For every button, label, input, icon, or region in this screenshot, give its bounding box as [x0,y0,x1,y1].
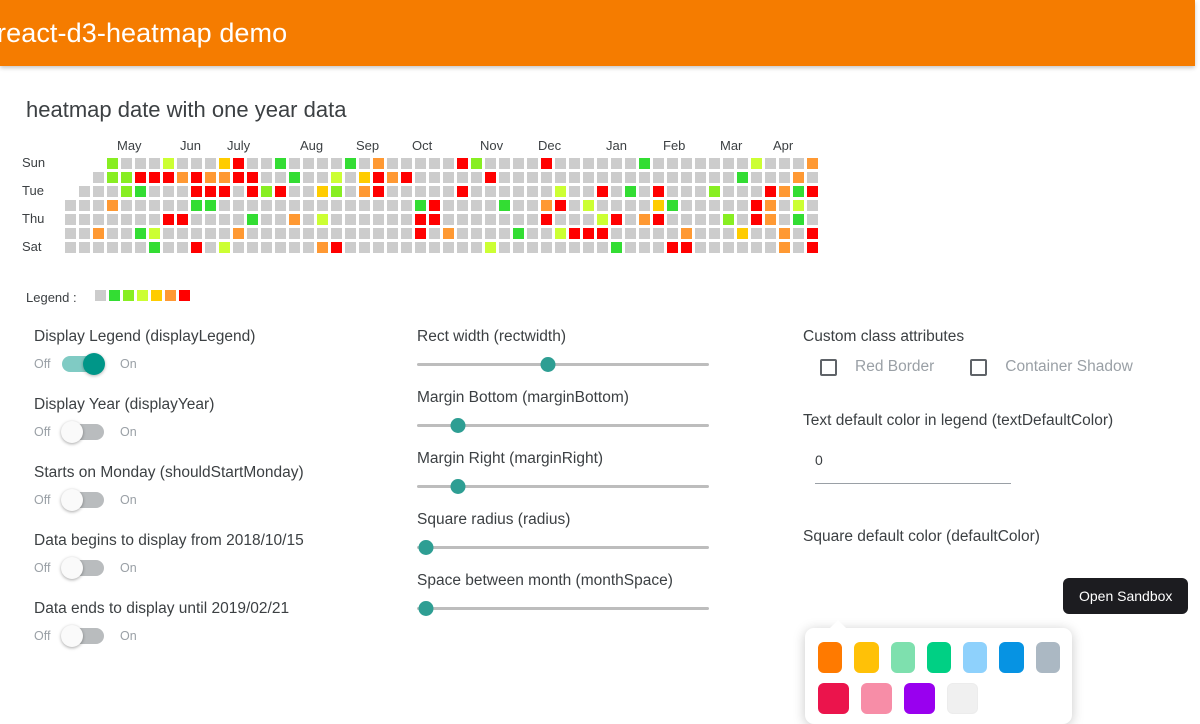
heatmap-cell[interactable] [345,200,356,211]
heatmap-cell[interactable] [499,172,510,183]
toggle-knob[interactable] [83,353,105,375]
toggle-switch[interactable] [62,356,104,372]
heatmap-cell[interactable] [625,200,636,211]
heatmap-cell[interactable] [79,186,90,197]
heatmap-cell[interactable] [191,158,202,169]
heatmap-cell[interactable] [541,214,552,225]
heatmap-cell[interactable] [765,242,776,253]
heatmap-cell[interactable] [625,214,636,225]
heatmap-cell[interactable] [639,172,650,183]
heatmap-cell[interactable] [555,172,566,183]
heatmap-cell[interactable] [247,158,258,169]
heatmap-cell[interactable] [149,158,160,169]
heatmap-cell[interactable] [177,186,188,197]
heatmap-cell[interactable] [569,186,580,197]
heatmap-cell[interactable] [443,242,454,253]
heatmap-cell[interactable] [275,172,286,183]
heatmap-cell[interactable] [79,200,90,211]
heatmap-cell[interactable] [289,228,300,239]
heatmap-cell[interactable] [163,214,174,225]
heatmap-cell[interactable] [653,158,664,169]
heatmap-cell[interactable] [583,186,594,197]
heatmap-cell[interactable] [177,242,188,253]
heatmap-cell[interactable] [79,228,90,239]
heatmap-cell[interactable] [443,228,454,239]
heatmap-cell[interactable] [555,186,566,197]
heatmap-cell[interactable] [471,214,482,225]
heatmap-cell[interactable] [583,228,594,239]
heatmap-cell[interactable] [639,186,650,197]
slider-track[interactable] [417,607,709,610]
heatmap-cell[interactable] [317,242,328,253]
heatmap-cell[interactable] [779,242,790,253]
heatmap-cell[interactable] [275,228,286,239]
heatmap-cell[interactable] [681,242,692,253]
heatmap-cell[interactable] [345,242,356,253]
heatmap-cell[interactable] [387,214,398,225]
heatmap-cell[interactable] [583,158,594,169]
heatmap-cell[interactable] [527,158,538,169]
heatmap-cell[interactable] [779,186,790,197]
heatmap-cell[interactable] [807,228,818,239]
heatmap-cell[interactable] [611,214,622,225]
heatmap-cell[interactable] [205,186,216,197]
heatmap-cell[interactable] [751,242,762,253]
heatmap-cell[interactable] [485,172,496,183]
heatmap-cell[interactable] [499,186,510,197]
heatmap-cell[interactable] [135,200,146,211]
color-swatch[interactable] [999,642,1023,673]
open-sandbox-button[interactable]: Open Sandbox [1063,578,1188,614]
heatmap-cell[interactable] [191,200,202,211]
heatmap-cell[interactable] [373,158,384,169]
heatmap-cell[interactable] [177,214,188,225]
heatmap-cell[interactable] [275,186,286,197]
heatmap-cell[interactable] [93,186,104,197]
heatmap-cell[interactable] [65,242,76,253]
heatmap-cell[interactable] [331,200,342,211]
heatmap-cell[interactable] [583,242,594,253]
heatmap-cell[interactable] [303,186,314,197]
heatmap-cell[interactable] [317,172,328,183]
slider-track[interactable] [417,485,709,488]
heatmap-cell[interactable] [709,242,720,253]
heatmap-cell[interactable] [401,186,412,197]
heatmap-cell[interactable] [513,200,524,211]
heatmap-cell[interactable] [485,214,496,225]
heatmap-cell[interactable] [611,186,622,197]
color-swatch[interactable] [947,683,978,714]
heatmap-cell[interactable] [555,200,566,211]
heatmap-cell[interactable] [331,242,342,253]
heatmap-cell[interactable] [303,214,314,225]
heatmap-cell[interactable] [275,200,286,211]
heatmap-cell[interactable] [667,158,678,169]
heatmap-cell[interactable] [303,242,314,253]
heatmap-cell[interactable] [653,186,664,197]
heatmap-cell[interactable] [93,200,104,211]
heatmap-cell[interactable] [513,186,524,197]
heatmap-cell[interactable] [177,158,188,169]
heatmap-cell[interactable] [149,172,160,183]
heatmap-cell[interactable] [625,158,636,169]
heatmap-cell[interactable] [653,228,664,239]
heatmap-cell[interactable] [695,172,706,183]
heatmap-cell[interactable] [569,242,580,253]
heatmap-cell[interactable] [247,186,258,197]
heatmap-cell[interactable] [345,228,356,239]
heatmap-cell[interactable] [723,200,734,211]
heatmap-cell[interactable] [443,214,454,225]
heatmap-cell[interactable] [359,228,370,239]
heatmap-cell[interactable] [219,186,230,197]
heatmap-cell[interactable] [457,242,468,253]
heatmap-cell[interactable] [415,172,426,183]
heatmap-cell[interactable] [793,186,804,197]
heatmap-cell[interactable] [765,172,776,183]
heatmap-cell[interactable] [387,172,398,183]
heatmap-cell[interactable] [667,200,678,211]
heatmap-cell[interactable] [387,186,398,197]
heatmap-cell[interactable] [359,186,370,197]
heatmap-cell[interactable] [233,158,244,169]
heatmap-cell[interactable] [415,200,426,211]
slider-thumb[interactable] [541,357,556,372]
heatmap-cell[interactable] [205,200,216,211]
slider-thumb[interactable] [418,540,433,555]
heatmap-cell[interactable] [93,242,104,253]
heatmap-cell[interactable] [331,186,342,197]
heatmap-cell[interactable] [723,228,734,239]
heatmap-cell[interactable] [205,158,216,169]
heatmap-cell[interactable] [107,214,118,225]
heatmap-cell[interactable] [429,200,440,211]
heatmap-cell[interactable] [597,186,608,197]
heatmap-cell[interactable] [247,172,258,183]
heatmap-cell[interactable] [233,214,244,225]
heatmap-cell[interactable] [107,200,118,211]
heatmap-cell[interactable] [737,228,748,239]
heatmap-cell[interactable] [163,242,174,253]
heatmap-cell[interactable] [695,186,706,197]
heatmap-cell[interactable] [527,186,538,197]
heatmap-cell[interactable] [485,200,496,211]
heatmap-cell[interactable] [653,242,664,253]
heatmap-cell[interactable] [695,158,706,169]
heatmap-cell[interactable] [807,242,818,253]
heatmap-cell[interactable] [751,200,762,211]
heatmap-cell[interactable] [359,200,370,211]
heatmap-cell[interactable] [709,228,720,239]
heatmap-cell[interactable] [667,172,678,183]
heatmap-cell[interactable] [107,242,118,253]
heatmap-cell[interactable] [527,228,538,239]
heatmap-cell[interactable] [779,200,790,211]
heatmap-cell[interactable] [807,186,818,197]
heatmap-cell[interactable] [597,200,608,211]
heatmap-cell[interactable] [555,242,566,253]
heatmap-cell[interactable] [569,200,580,211]
color-swatch[interactable] [891,642,915,673]
heatmap-cell[interactable] [527,172,538,183]
heatmap-cell[interactable] [499,200,510,211]
heatmap-cell[interactable] [709,214,720,225]
heatmap-cell[interactable] [443,172,454,183]
heatmap-cell[interactable] [765,200,776,211]
heatmap-cell[interactable] [569,172,580,183]
heatmap-cell[interactable] [233,242,244,253]
heatmap-cell[interactable] [723,172,734,183]
heatmap-cell[interactable] [429,214,440,225]
heatmap-cell[interactable] [163,172,174,183]
heatmap-cell[interactable] [65,228,76,239]
heatmap-cell[interactable] [289,158,300,169]
heatmap-cell[interactable] [667,186,678,197]
heatmap-cell[interactable] [401,158,412,169]
heatmap-cell[interactable] [611,200,622,211]
heatmap-cell[interactable] [149,228,160,239]
heatmap-cell[interactable] [415,214,426,225]
heatmap-cell[interactable] [583,214,594,225]
heatmap-cell[interactable] [177,228,188,239]
heatmap-cell[interactable] [723,158,734,169]
heatmap-cell[interactable] [261,186,272,197]
heatmap-cell[interactable] [765,186,776,197]
heatmap-cell[interactable] [107,158,118,169]
heatmap-cell[interactable] [429,228,440,239]
toggle-knob[interactable] [61,557,83,579]
heatmap-cell[interactable] [779,158,790,169]
heatmap-cell[interactable] [93,214,104,225]
heatmap-cell[interactable] [569,228,580,239]
heatmap-cell[interactable] [695,242,706,253]
heatmap-cell[interactable] [751,186,762,197]
heatmap-cell[interactable] [611,242,622,253]
slider-track[interactable] [417,546,709,549]
heatmap-cell[interactable] [653,200,664,211]
heatmap-cell[interactable] [135,214,146,225]
heatmap-cell[interactable] [429,242,440,253]
heatmap-cell[interactable] [401,242,412,253]
heatmap-cell[interactable] [471,186,482,197]
heatmap-cell[interactable] [597,242,608,253]
heatmap-cell[interactable] [331,172,342,183]
heatmap-cell[interactable] [807,200,818,211]
heatmap-cell[interactable] [457,158,468,169]
heatmap-cell[interactable] [471,172,482,183]
heatmap-cell[interactable] [765,158,776,169]
heatmap-cell[interactable] [541,158,552,169]
heatmap-cell[interactable] [107,228,118,239]
heatmap-cell[interactable] [639,214,650,225]
heatmap-cell[interactable] [653,214,664,225]
heatmap-cell[interactable] [793,242,804,253]
slider-thumb[interactable] [450,479,465,494]
heatmap-cell[interactable] [429,172,440,183]
heatmap-cell[interactable] [583,172,594,183]
heatmap-cell[interactable] [779,172,790,183]
toggle-knob[interactable] [61,625,83,647]
heatmap-cell[interactable] [191,172,202,183]
heatmap-cell[interactable] [555,228,566,239]
heatmap-cell[interactable] [457,214,468,225]
heatmap-cell[interactable] [289,214,300,225]
checkbox-item[interactable]: Red Border [820,358,934,376]
heatmap-cell[interactable] [79,242,90,253]
heatmap-cell[interactable] [625,172,636,183]
heatmap-cell[interactable] [737,158,748,169]
heatmap-cell[interactable] [359,242,370,253]
toggle-switch[interactable] [62,492,104,508]
color-swatch[interactable] [818,683,849,714]
slider-thumb[interactable] [418,601,433,616]
heatmap-cell[interactable] [233,172,244,183]
heatmap-cell[interactable] [149,214,160,225]
heatmap-cell[interactable] [457,172,468,183]
heatmap-cell[interactable] [513,242,524,253]
heatmap-cell[interactable] [261,228,272,239]
heatmap-cell[interactable] [443,200,454,211]
heatmap-cell[interactable] [107,186,118,197]
toggle-switch[interactable] [62,424,104,440]
toggle-switch[interactable] [62,628,104,644]
heatmap-cell[interactable] [541,228,552,239]
heatmap-cell[interactable] [751,172,762,183]
heatmap-cell[interactable] [639,158,650,169]
heatmap-cell[interactable] [583,200,594,211]
heatmap-cell[interactable] [219,200,230,211]
heatmap-cell[interactable] [499,158,510,169]
heatmap-cell[interactable] [345,186,356,197]
heatmap-cell[interactable] [345,158,356,169]
heatmap-cell[interactable] [401,172,412,183]
heatmap-cell[interactable] [681,200,692,211]
heatmap-cell[interactable] [597,214,608,225]
heatmap-cell[interactable] [177,200,188,211]
heatmap-cell[interactable] [681,158,692,169]
heatmap-cell[interactable] [93,172,104,183]
heatmap-cell[interactable] [261,172,272,183]
heatmap-cell[interactable] [681,186,692,197]
color-swatch[interactable] [904,683,935,714]
heatmap-cell[interactable] [723,214,734,225]
heatmap-cell[interactable] [513,158,524,169]
heatmap-cell[interactable] [555,158,566,169]
heatmap-cell[interactable] [597,158,608,169]
heatmap-cell[interactable] [289,242,300,253]
heatmap-cell[interactable] [331,228,342,239]
heatmap-cell[interactable] [513,228,524,239]
heatmap-cell[interactable] [443,158,454,169]
heatmap-cell[interactable] [205,228,216,239]
heatmap-cell[interactable] [121,186,132,197]
heatmap-cell[interactable] [191,186,202,197]
heatmap-cell[interactable] [415,228,426,239]
heatmap-cell[interactable] [317,186,328,197]
heatmap-cell[interactable] [471,228,482,239]
heatmap-cell[interactable] [149,242,160,253]
heatmap-cell[interactable] [779,214,790,225]
heatmap-cell[interactable] [527,200,538,211]
heatmap-cell[interactable] [261,158,272,169]
checkbox-icon[interactable] [970,359,987,376]
heatmap-cell[interactable] [541,172,552,183]
heatmap-cell[interactable] [205,172,216,183]
heatmap-cell[interactable] [457,228,468,239]
heatmap-cell[interactable] [121,200,132,211]
heatmap-cell[interactable] [681,228,692,239]
heatmap-cell[interactable] [121,172,132,183]
heatmap-cell[interactable] [485,228,496,239]
heatmap-cell[interactable] [317,200,328,211]
heatmap-cell[interactable] [471,158,482,169]
heatmap-cell[interactable] [597,228,608,239]
heatmap-cell[interactable] [149,200,160,211]
heatmap-cell[interactable] [499,228,510,239]
heatmap-cell[interactable] [485,186,496,197]
heatmap-cell[interactable] [121,242,132,253]
heatmap-cell[interactable] [121,228,132,239]
heatmap-cell[interactable] [667,214,678,225]
heatmap-cell[interactable] [317,214,328,225]
heatmap-cell[interactable] [793,228,804,239]
heatmap-cell[interactable] [499,214,510,225]
heatmap-cell[interactable] [415,158,426,169]
heatmap-cell[interactable] [737,242,748,253]
heatmap-cell[interactable] [219,242,230,253]
heatmap-cell[interactable] [527,242,538,253]
heatmap-cell[interactable] [303,228,314,239]
heatmap-cell[interactable] [639,228,650,239]
heatmap-cell[interactable] [527,214,538,225]
heatmap-cell[interactable] [429,158,440,169]
heatmap-cell[interactable] [163,186,174,197]
heatmap-cell[interactable] [205,242,216,253]
heatmap-cell[interactable] [625,242,636,253]
heatmap-cell[interactable] [569,214,580,225]
heatmap-cell[interactable] [359,214,370,225]
heatmap-cell[interactable] [387,242,398,253]
heatmap-cell[interactable] [443,186,454,197]
color-swatch[interactable] [854,642,878,673]
heatmap-cell[interactable] [387,158,398,169]
heatmap-cell[interactable] [485,242,496,253]
heatmap-cell[interactable] [513,172,524,183]
heatmap-cell[interactable] [709,172,720,183]
heatmap-cell[interactable] [65,214,76,225]
toggle-switch[interactable] [62,560,104,576]
heatmap-cell[interactable] [373,242,384,253]
heatmap-cell[interactable] [219,214,230,225]
heatmap-cell[interactable] [247,214,258,225]
heatmap-cell[interactable] [401,214,412,225]
toggle-knob[interactable] [61,489,83,511]
heatmap-cell[interactable] [751,158,762,169]
heatmap-cell[interactable] [807,158,818,169]
heatmap-cell[interactable] [737,214,748,225]
heatmap-cell[interactable] [653,172,664,183]
heatmap-cell[interactable] [779,228,790,239]
color-swatch[interactable] [963,642,987,673]
heatmap-cell[interactable] [695,228,706,239]
heatmap-cell[interactable] [625,228,636,239]
heatmap-cell[interactable] [289,186,300,197]
heatmap-cell[interactable] [373,214,384,225]
heatmap-cell[interactable] [681,214,692,225]
heatmap-cell[interactable] [303,172,314,183]
heatmap-cell[interactable] [233,186,244,197]
heatmap-cell[interactable] [793,214,804,225]
